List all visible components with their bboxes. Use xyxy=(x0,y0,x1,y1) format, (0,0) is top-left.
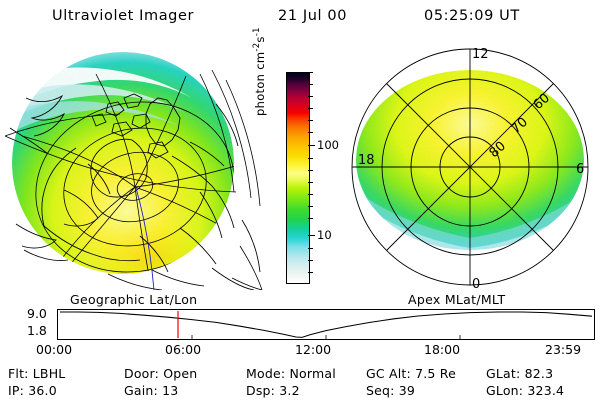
time-tick-4: 23:59 xyxy=(545,342,581,357)
header: Ultraviolet Imager 21 Jul 00 05:25:09 UT xyxy=(0,6,600,30)
colorbar-axis-label: photon cm-2s-1 xyxy=(252,0,267,116)
uvi-summary-plot: Ultraviolet Imager 21 Jul 00 05:25:09 UT xyxy=(0,0,600,400)
status-block: Flt: LBHL Door: Open Mode: Normal GC Alt… xyxy=(0,366,600,400)
status-flt: Flt: LBHL xyxy=(8,366,65,381)
colorbar-tick-10: 10 xyxy=(317,228,332,242)
status-gc-alt: GC Alt: 7.5 Re xyxy=(366,366,456,381)
observation-time: 05:25:09 UT xyxy=(424,8,520,24)
time-tick-3: 18:00 xyxy=(424,342,460,357)
status-seq: Seq: 39 xyxy=(366,383,415,398)
orbit-time-axis: 00:00 06:00 12:00 18:00 23:59 xyxy=(0,342,600,358)
page-title: Ultraviolet Imager xyxy=(52,8,194,24)
time-tick-2: 12:00 xyxy=(295,342,331,357)
apex-polar-panel: 12 6 0 18 60 70 80 xyxy=(336,40,598,290)
status-glat: GLat: 82.3 xyxy=(486,366,553,381)
status-ip: IP: 36.0 xyxy=(8,383,57,398)
orbit-altitude-section: Geographic Lat/Lon Apex MLat/MLT GC Alt … xyxy=(0,292,600,354)
time-tick-1: 06:00 xyxy=(165,342,201,357)
gc-alt-tick-low: 1.8 xyxy=(27,323,47,338)
apex-polar-grid xyxy=(352,49,588,285)
mlt-label-6: 6 xyxy=(576,162,584,177)
geographic-image-panel xyxy=(4,40,266,290)
orbit-altitude-track xyxy=(60,312,592,337)
colorbar: photon cm-2s-1 100 10 xyxy=(268,64,334,292)
geographic-panel-caption: Geographic Lat/Lon xyxy=(70,292,197,307)
time-tick-0: 00:00 xyxy=(36,342,72,357)
mlt-label-12: 12 xyxy=(472,47,489,62)
status-door: Door: Open xyxy=(124,366,197,381)
status-gain: Gain: 13 xyxy=(124,383,178,398)
colorbar-ticks: 100 10 xyxy=(308,72,334,282)
mlt-label-18: 18 xyxy=(358,153,375,168)
colorbar-gradient xyxy=(286,72,310,284)
observation-date: 21 Jul 00 xyxy=(278,8,347,24)
status-glon: GLon: 323.4 xyxy=(486,383,564,398)
apex-panel-caption: Apex MLat/MLT xyxy=(408,292,505,307)
mlt-label-0: 0 xyxy=(472,277,480,290)
orbit-altitude-plot[interactable] xyxy=(57,309,595,340)
gc-alt-tick-high: 9.0 xyxy=(27,306,47,321)
status-mode: Mode: Normal xyxy=(246,366,336,381)
status-dsp: Dsp: 3.2 xyxy=(246,383,300,398)
orbit-bottom-ticks xyxy=(192,335,460,339)
